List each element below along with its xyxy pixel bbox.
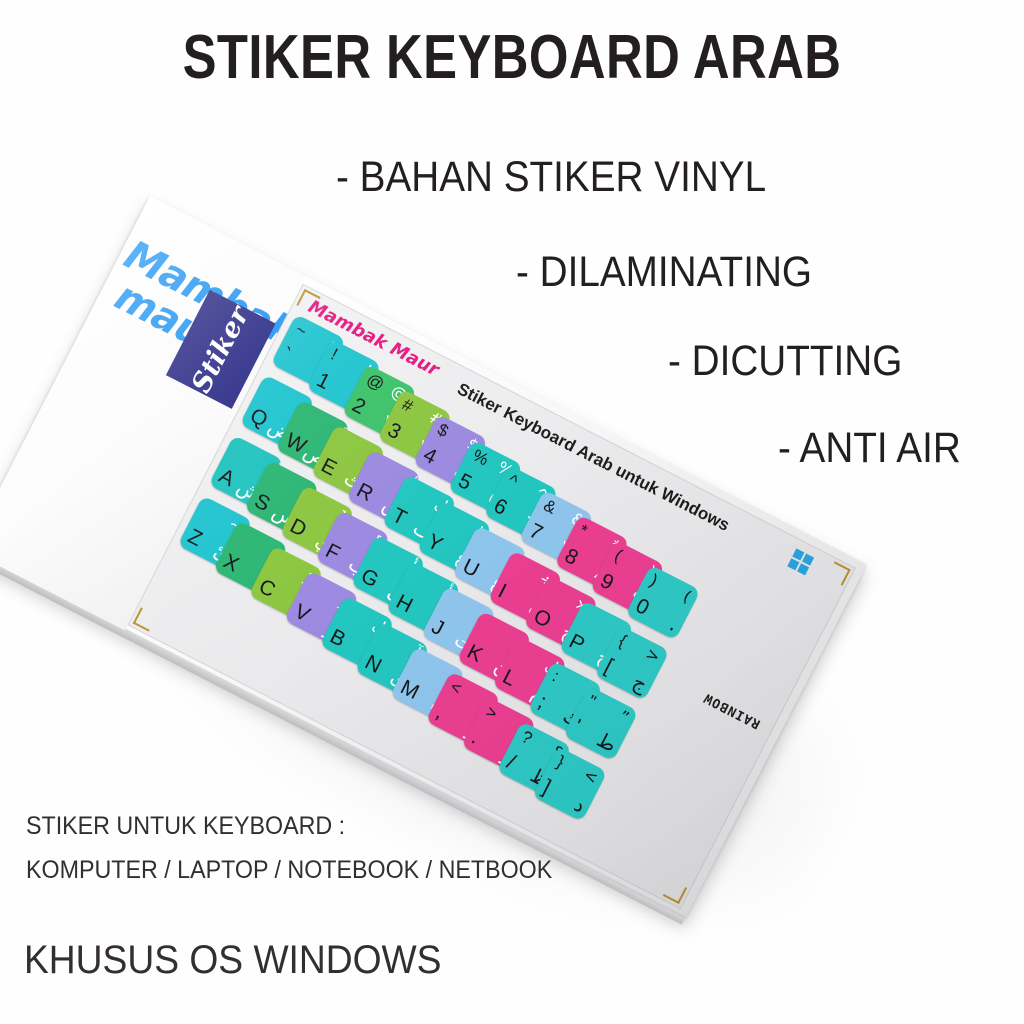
device-list: KOMPUTER / LAPTOP / NOTEBOOK / NETBOOK	[26, 856, 552, 885]
key-latin-glyph: /	[504, 752, 519, 773]
key-latin-shift-glyph: ~	[293, 321, 310, 341]
key-latin-shift-glyph: @	[364, 371, 387, 394]
key-latin-glyph: Z	[185, 526, 206, 551]
registration-mark-icon	[826, 561, 850, 585]
key-latin-glyph: B	[326, 626, 348, 651]
key-arabic-shift-glyph: >	[581, 767, 600, 787]
key-latin-glyph: 1	[313, 369, 333, 393]
stiker-badge-label: Stiker	[186, 301, 256, 397]
key-latin-glyph: ,	[433, 701, 448, 722]
key-latin-glyph: E	[318, 455, 340, 480]
key-latin-shift-glyph: ^	[506, 471, 521, 490]
key-latin-shift-glyph: &	[541, 496, 559, 516]
key-latin-glyph: X	[220, 551, 242, 576]
key-latin-glyph: .	[468, 726, 483, 747]
key-latin-shift-glyph: ?	[519, 728, 535, 747]
os-requirement: KHUSUS OS WINDOWS	[24, 938, 441, 983]
key-latin-shift-glyph: #	[399, 396, 415, 415]
key-latin-glyph: M	[397, 676, 422, 703]
key-latin-glyph: V	[291, 601, 313, 626]
key-latin-glyph: ]	[539, 777, 554, 798]
key-arabic-glyph: د	[571, 794, 588, 816]
key-latin-glyph: S	[251, 490, 273, 515]
key-latin-glyph: N	[362, 651, 385, 677]
key-latin-glyph: `	[278, 344, 294, 366]
key-latin-shift-glyph: !	[328, 346, 340, 363]
key-latin-shift-glyph: }	[554, 753, 567, 771]
usage-label: STIKER UNTUK KEYBOARD :	[26, 812, 345, 841]
product-image-canvas: STIKER KEYBOARD ARAB - BAHAN STIKER VINY…	[0, 0, 1024, 1024]
key-latin-glyph: C	[255, 576, 278, 602]
key-latin-glyph: D	[287, 515, 310, 541]
key-latin-glyph: A	[216, 465, 238, 490]
key-latin-glyph: 2	[349, 394, 369, 418]
key-latin-shift-glyph: $	[435, 421, 451, 440]
key-latin-shift-glyph: <	[448, 678, 465, 698]
key-latin-shift-glyph: %	[470, 446, 491, 468]
key-latin-shift-glyph: >	[483, 703, 500, 723]
